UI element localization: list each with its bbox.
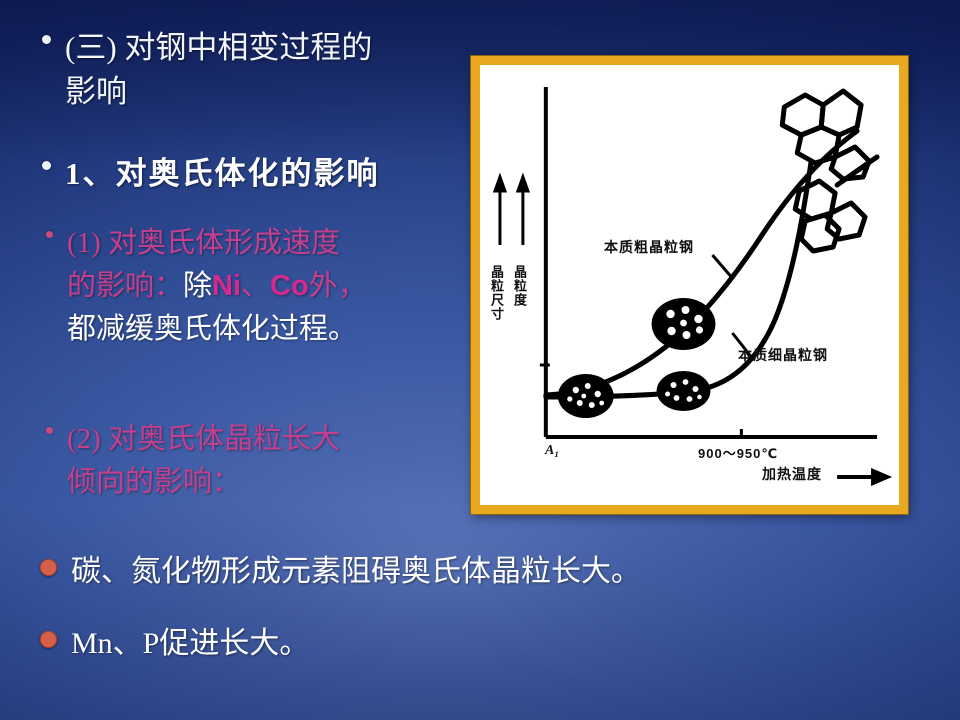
grain-cluster-coarse-medium xyxy=(652,298,716,350)
grain-growth-diagram: 晶粒尺寸 晶粒度 本质粗晶粒钢 本质细晶粒钢 A₁ 900～950℃ 加热温度 xyxy=(471,56,908,514)
bullet-5-text: 碳、氮化物形成元素阻碍奥氏体晶粒长大。 xyxy=(71,550,641,594)
bullet-dot-orange-icon xyxy=(40,559,57,576)
curve-fine-grain-tail xyxy=(837,157,877,185)
grain-cluster-fine-small xyxy=(657,371,711,411)
bullet-3-line-2-suffix: 外， xyxy=(309,270,367,302)
bullet-4-line-1: (2) 对奥氏体晶粒长大 xyxy=(67,423,340,455)
bullet-3-line-2-prefix: 的影响： xyxy=(67,270,183,302)
annotation-fine-grain-steel: 本质细晶粒钢 xyxy=(738,345,828,365)
slide-content: (三) 对钢中相变过程的 影响 1、对奥氏体化的影响 (1) 对奥氏体形成速度 … xyxy=(0,0,960,720)
bullet-4-line-2: 倾向的影响： xyxy=(67,466,241,498)
grain-cluster-coarse-large xyxy=(782,91,869,179)
y-axis-arrow-group xyxy=(495,177,528,245)
x-axis-title: 加热温度 xyxy=(762,464,822,484)
bullet-1-text: (三) 对钢中相变过程的 影响 xyxy=(65,26,372,114)
bullet-3-separator: 、 xyxy=(241,270,270,302)
bullet-item-5: 碳、氮化物形成元素阻碍奥氏体晶粒长大。 xyxy=(40,550,940,594)
bullet-6-text: Mn、P促进长大。 xyxy=(71,622,309,666)
bullet-3-line-3: 都减缓奥氏体化过程。 xyxy=(67,313,357,345)
bullet-item-6: Mn、P促进长大。 xyxy=(40,622,940,666)
x-axis-tick-label-a1: A₁ xyxy=(545,443,559,459)
bullet-3-line-1: (1) 对奥氏体形成速度 xyxy=(67,227,340,259)
x-axis-arrow xyxy=(837,471,887,483)
bullet-3-element-ni: Ni xyxy=(212,270,241,302)
annotation-coarse-grain-steel: 本质粗晶粒钢 xyxy=(604,237,694,257)
bullet-2-text: 1、对奥氏体化的影响 xyxy=(65,152,380,196)
bullet-4-text: (2) 对奥氏体晶粒长大 倾向的影响： xyxy=(67,418,340,504)
bullet-3-element-co: Co xyxy=(270,270,309,302)
bullet-dot-white-icon xyxy=(42,35,51,44)
y-axis-label-grain-grade: 晶粒度 xyxy=(510,265,529,307)
x-axis-tick-label-temperature-range: 900～950℃ xyxy=(698,443,778,462)
bullet-1-line-1: (三) 对钢中相变过程的 xyxy=(65,30,372,65)
bullet-dot-orange-icon xyxy=(40,631,57,648)
bullet-item-2: 1、对奥氏体化的影响 xyxy=(42,152,462,196)
bullet-3-text: (1) 对奥氏体形成速度 的影响：除Ni、Co外， 都减缓奥氏体化过程。 xyxy=(67,222,367,351)
bullet-item-3: (1) 对奥氏体形成速度 的影响：除Ni、Co外， 都减缓奥氏体化过程。 xyxy=(46,222,466,351)
diagram-svg xyxy=(480,65,899,505)
bullet-3-white-1: 除 xyxy=(183,270,212,302)
bullet-dot-white-icon xyxy=(42,161,51,170)
bullet-dot-pink-icon xyxy=(46,231,53,238)
leader-line-coarse xyxy=(712,255,731,277)
bullet-1-line-2: 影响 xyxy=(65,74,127,109)
y-axis-label-grain-size: 晶粒尺寸 xyxy=(487,265,506,321)
grain-cluster-coarse-small xyxy=(558,374,614,418)
bullet-item-4: (2) 对奥氏体晶粒长大 倾向的影响： xyxy=(46,418,466,504)
bullet-dot-pink-icon xyxy=(46,427,53,434)
bullet-item-1: (三) 对钢中相变过程的 影响 xyxy=(42,26,452,114)
diagram-canvas: 晶粒尺寸 晶粒度 本质粗晶粒钢 本质细晶粒钢 A₁ 900～950℃ 加热温度 xyxy=(480,65,899,505)
